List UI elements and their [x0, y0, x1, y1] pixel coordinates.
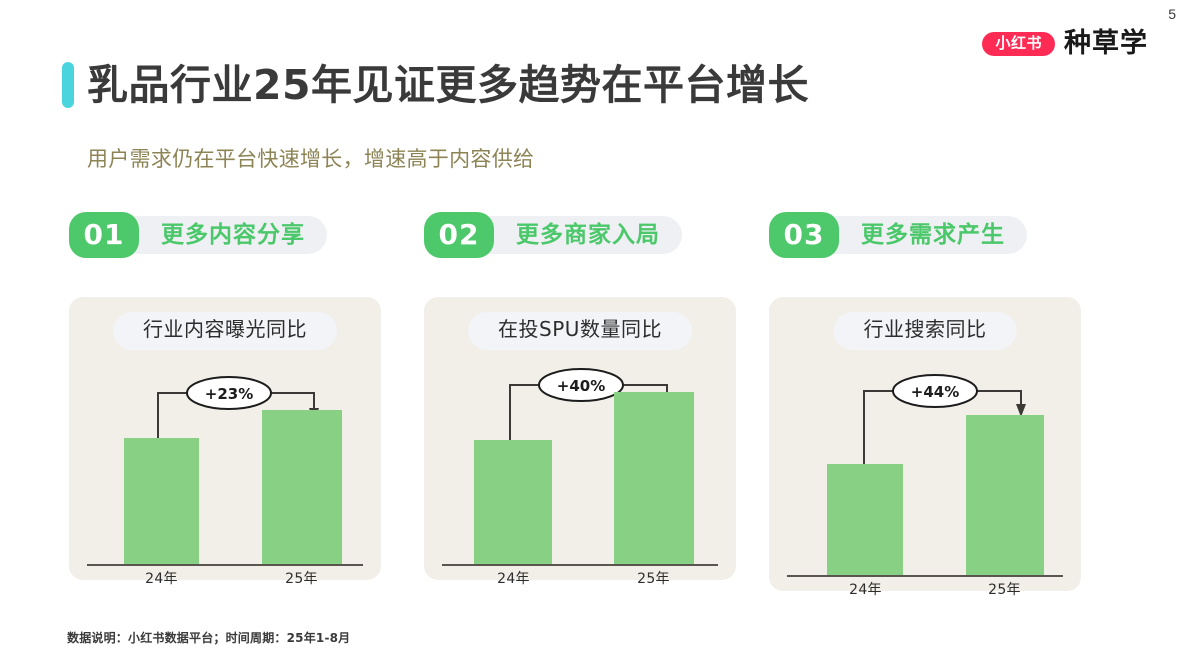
- step-label-text-02: 更多商家入局: [516, 224, 660, 247]
- brand-logo: 小红书 种草学: [982, 30, 1148, 57]
- column-01: 更多内容分享 01 行业内容曝光同比 +23%: [69, 212, 381, 258]
- bar-24-01: [124, 438, 199, 564]
- tick-label-24-01: 24年: [114, 568, 209, 588]
- axis-line-03: [787, 575, 1063, 577]
- step-badge-02: 更多商家入局 02: [424, 212, 736, 258]
- axis-line-01: [87, 564, 363, 566]
- bar-25-03: [966, 415, 1044, 575]
- axis-line-02: [442, 564, 718, 566]
- columns-container: 更多内容分享 01 行业内容曝光同比 +23%: [0, 212, 1190, 612]
- bar-chart-02: +40% 24年 25年: [424, 297, 736, 580]
- bar-25-01: [262, 410, 342, 564]
- page-subtitle: 用户需求仍在平台快速增长，增速高于内容供给: [87, 143, 534, 173]
- column-02: 更多商家入局 02 在投SPU数量同比 +40%: [424, 212, 736, 258]
- step-badge-01: 更多内容分享 01: [69, 212, 381, 258]
- step-number-badge-01: 01: [69, 212, 139, 258]
- bar-24-03: [827, 464, 903, 575]
- step-label-text-03: 更多需求产生: [861, 224, 1005, 247]
- xiaohongshu-logo-pill: 小红书: [982, 32, 1055, 56]
- bar-25-02: [614, 392, 694, 564]
- bar-chart-03: +44% 24年 25年: [769, 297, 1081, 591]
- tick-label-24-02: 24年: [466, 568, 561, 588]
- chart-card-03: 行业搜索同比 +44% 24年 25年: [769, 297, 1081, 591]
- accent-bar-icon: [62, 62, 74, 108]
- slide-canvas: 5 小红书 种草学 乳品行业25年见证更多趋势在平台增长 用户需求仍在平台快速增…: [0, 0, 1190, 669]
- tick-label-24-03: 24年: [818, 579, 913, 599]
- step-number-text-03: 03: [784, 221, 825, 249]
- column-03: 更多需求产生 03 行业搜索同比 +44%: [769, 212, 1081, 258]
- tick-label-25-02: 25年: [606, 568, 701, 588]
- brand-name: 种草学: [1064, 30, 1148, 57]
- growth-value-02: +40%: [557, 377, 605, 395]
- step-badge-03: 更多需求产生 03: [769, 212, 1081, 258]
- tick-label-25-01: 25年: [254, 568, 349, 588]
- step-number-text-01: 01: [84, 221, 125, 249]
- page-number: 5: [1168, 6, 1176, 22]
- bar-chart-01: +23% 24年 25年: [69, 297, 381, 580]
- page-title: 乳品行业25年见证更多趋势在平台增长: [87, 65, 809, 106]
- step-number-text-02: 02: [439, 221, 480, 249]
- growth-value-03: +44%: [911, 383, 959, 401]
- growth-value-01: +23%: [205, 385, 253, 403]
- step-label-text-01: 更多内容分享: [161, 224, 305, 247]
- footnote: 数据说明：小红书数据平台；时间周期：25年1-8月: [67, 629, 350, 646]
- step-number-badge-03: 03: [769, 212, 839, 258]
- step-number-badge-02: 02: [424, 212, 494, 258]
- bar-24-02: [474, 440, 552, 564]
- chart-card-01: 行业内容曝光同比 +23% 24年 25年: [69, 297, 381, 580]
- headline-row: 乳品行业25年见证更多趋势在平台增长: [62, 62, 809, 108]
- tick-label-25-03: 25年: [957, 579, 1052, 599]
- chart-card-02: 在投SPU数量同比 +40% 24年 25年: [424, 297, 736, 580]
